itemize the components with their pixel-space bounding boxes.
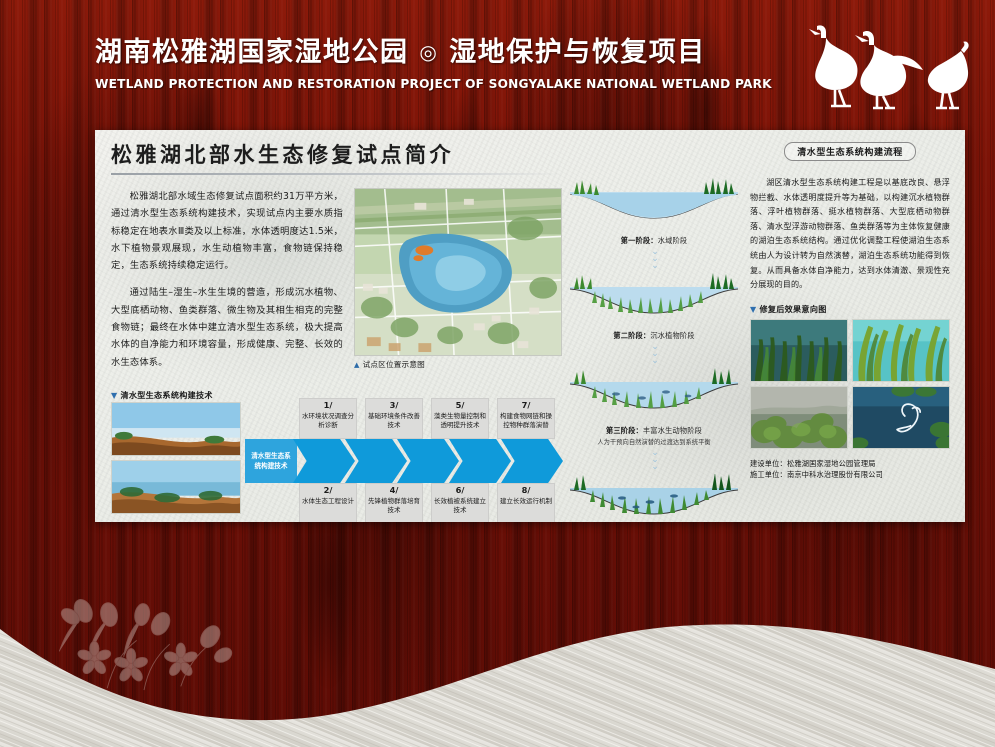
triangle-marker-icon: ▲ [354, 361, 360, 369]
triangle-down-icon: ▼ [111, 391, 117, 400]
flow-step-6-number: 6/ [434, 486, 486, 496]
cross-section-photo-bottom [111, 460, 241, 514]
chevron-down-icon: ⌄ [570, 358, 740, 365]
stage-1: 第一阶段：水域阶段 [570, 178, 738, 246]
stage-1-name: 水域阶段 [658, 236, 688, 245]
title-cn-right: 湿地保护与恢复项目 [449, 37, 706, 68]
flow-chevron-row [293, 439, 565, 483]
flow-step-4-text: 先锋植物群落培育技术 [368, 497, 420, 515]
underwater-photo-4 [852, 386, 950, 449]
right-column: 清水型生态系统构建流程 湖区清水型生态系统构建工程是以基底改良、悬浮物拦截、水体… [750, 140, 950, 480]
flow-step-3[interactable]: 3/ 基础环境条件改善技术 [365, 398, 423, 439]
flow-step-6-text: 长效植被系统建立技术 [434, 497, 486, 515]
flow-step-4[interactable]: 4/ 先锋植物群落培育技术 [365, 483, 423, 522]
content-board: 松雅湖北部水生态修复试点简介 松雅湖北部水域生态修复试点面积约31万平方米，通过… [95, 130, 965, 522]
page-subtitle-en: WETLAND PROTECTION AND RESTORATION PROJE… [95, 75, 772, 93]
stage-1-caption: 第一阶段：水域阶段 [570, 236, 738, 246]
flow-step-5-number: 5/ [434, 401, 486, 411]
tech-section-label-text: 清水型生态系统构建技术 [120, 390, 212, 401]
credits-block: 建设单位：松雅湖国家湿地公园管理局 施工单位：南京中科水治理股份有限公司 [750, 458, 950, 480]
flow-step-2[interactable]: 2/ 水体生态工程设计 [299, 483, 357, 522]
underwater-photo-2 [852, 319, 950, 382]
flow-step-2-text: 水体生态工程设计 [302, 497, 354, 505]
header-text-block: 湖南松雅湖国家湿地公园 ◎ 湿地保护与恢复项目 WETLAND PROTECTI… [95, 34, 772, 93]
stage-1-illustration [570, 178, 738, 234]
title-separator-icon: ◎ [419, 40, 438, 64]
flow-step-1-text: 水环境状况调查分析诊断 [302, 412, 354, 430]
stage-3-illustration [570, 368, 738, 424]
stage-4-illustration [570, 474, 738, 522]
middle-column: 第一阶段：水域阶段 ⌄ ⌄ ⌄ [570, 178, 740, 522]
effect-gallery-label: ▼ 修复后效果意向图 [750, 304, 950, 315]
process-title-pill: 清水型生态系统构建流程 [784, 142, 916, 161]
flow-step-3-number: 3/ [368, 401, 420, 411]
flow-step-4-number: 4/ [368, 486, 420, 496]
chevron-down-icon: ⌄ [570, 464, 740, 471]
credit-owner: 建设单位：松雅湖国家湿地公园管理局 [750, 458, 950, 469]
flow-step-8-text: 建立长效运行机制 [500, 497, 552, 505]
effect-photo-grid [750, 319, 950, 449]
stage-3-caption: 第三阶段：丰富水生动物阶段 [570, 426, 738, 436]
flow-step-8[interactable]: 8/ 建立长效运行机制 [497, 483, 555, 522]
flow-step-3-text: 基础环境条件改善技术 [368, 412, 420, 430]
flow-step-5[interactable]: 5/ 藻类生物量控制和透明提升技术 [431, 398, 489, 439]
page-header: 湖南松雅湖国家湿地公园 ◎ 湿地保护与恢复项目 WETLAND PROTECTI… [0, 34, 995, 120]
flow-step-8-number: 8/ [500, 486, 552, 496]
stage-3-name: 丰富水生动物阶段 [643, 426, 702, 435]
flow-step-6[interactable]: 6/ 长效植被系统建立技术 [431, 483, 489, 522]
stage-transition-chevrons-1: ⌄ ⌄ ⌄ [570, 249, 740, 270]
technology-flow-diagram: 清水型生态系统构建技术 1/ 水环境状况调查分析诊断 2/ 水体生态工程设计 3… [245, 398, 565, 522]
underwater-photo-3 [750, 386, 848, 449]
credit-contractor: 施工单位：南京中科水治理股份有限公司 [750, 469, 950, 480]
triangle-down-icon: ▼ [750, 305, 756, 314]
underwater-photo-1 [750, 319, 848, 382]
flow-step-7[interactable]: 7/ 构建食物网链和操控物种群落演替 [497, 398, 555, 439]
site-map-image [354, 188, 562, 356]
process-title-wrap: 清水型生态系统构建流程 [750, 140, 950, 161]
process-paragraph: 湖区清水型生态系统构建工程是以基底改良、悬浮物拦截、水体透明度提升等为基础，以构… [750, 175, 950, 292]
stage-2-name: 沉水植物阶段 [650, 331, 694, 340]
tech-section-label: ▼ 清水型生态系统构建技术 [111, 390, 213, 401]
intro-text-block: 松雅湖北部水域生态修复试点面积约31万平方米，通过清水型生态系统构建技术，实现试… [111, 188, 343, 371]
cross-section-photo-stack [111, 402, 241, 514]
chevron-down-icon: ⌄ [570, 263, 740, 270]
effect-gallery-label-text: 修复后效果意向图 [759, 304, 826, 315]
stage-3-prefix: 第三阶段： [606, 426, 643, 435]
flow-step-7-text: 构建食物网链和操控物种群落演替 [500, 412, 552, 430]
stage-3: 第三阶段：丰富水生动物阶段 人为干预向自然演替的过渡达到系统平衡 [570, 368, 738, 447]
flow-step-5-text: 藻类生物量控制和透明提升技术 [434, 412, 486, 430]
stage-2-illustration [570, 273, 738, 329]
title-divider [111, 173, 563, 175]
title-cn-left: 湖南松雅湖国家湿地公园 [95, 37, 409, 68]
flow-step-7-number: 7/ [500, 401, 552, 411]
page-title: 湖南松雅湖国家湿地公园 ◎ 湿地保护与恢复项目 [95, 34, 772, 71]
stage-2-prefix: 第二阶段： [613, 331, 650, 340]
site-map-caption-text: 试点区位置示意图 [363, 359, 425, 370]
stage-2-caption: 第二阶段：沉水植物阶段 [570, 331, 738, 341]
intro-paragraph-1: 松雅湖北部水域生态修复试点面积约31万平方米，通过清水型生态系统构建技术，实现试… [111, 188, 343, 274]
site-map-figure: ▲ 试点区位置示意图 [354, 188, 562, 370]
flow-step-2-number: 2/ [302, 486, 354, 496]
flow-chevron [293, 439, 355, 483]
stage-transition-chevrons-3: ⌄ ⌄ ⌄ [570, 450, 740, 471]
section-title: 松雅湖北部水生态修复试点简介 [111, 140, 567, 170]
stage-4: 最终阶段：湖泊水生态系统阶段 [570, 474, 738, 522]
stage-transition-chevrons-2: ⌄ ⌄ ⌄ [570, 344, 740, 365]
stage-transition-note: 人为干预向自然演替的过渡达到系统平衡 [570, 438, 738, 447]
flow-start-label: 清水型生态系统构建技术 [245, 439, 297, 483]
left-column: 松雅湖北部水生态修复试点简介 松雅湖北部水域生态修复试点面积约31万平方米，通过… [111, 140, 567, 175]
crane-icon [795, 20, 970, 116]
stage-1-prefix: 第一阶段： [621, 236, 658, 245]
flow-step-1[interactable]: 1/ 水环境状况调查分析诊断 [299, 398, 357, 439]
cross-section-photo-top [111, 402, 241, 456]
marble-wave-decoration [0, 517, 995, 747]
intro-paragraph-2: 通过陆生–湿生–水生生境的营造，形成沉水植物、大型底栖动物、鱼类群落、微生物及其… [111, 284, 343, 370]
site-map-caption: ▲ 试点区位置示意图 [354, 359, 562, 370]
stage-2: 第二阶段：沉水植物阶段 [570, 273, 738, 341]
flow-step-1-number: 1/ [302, 401, 354, 411]
